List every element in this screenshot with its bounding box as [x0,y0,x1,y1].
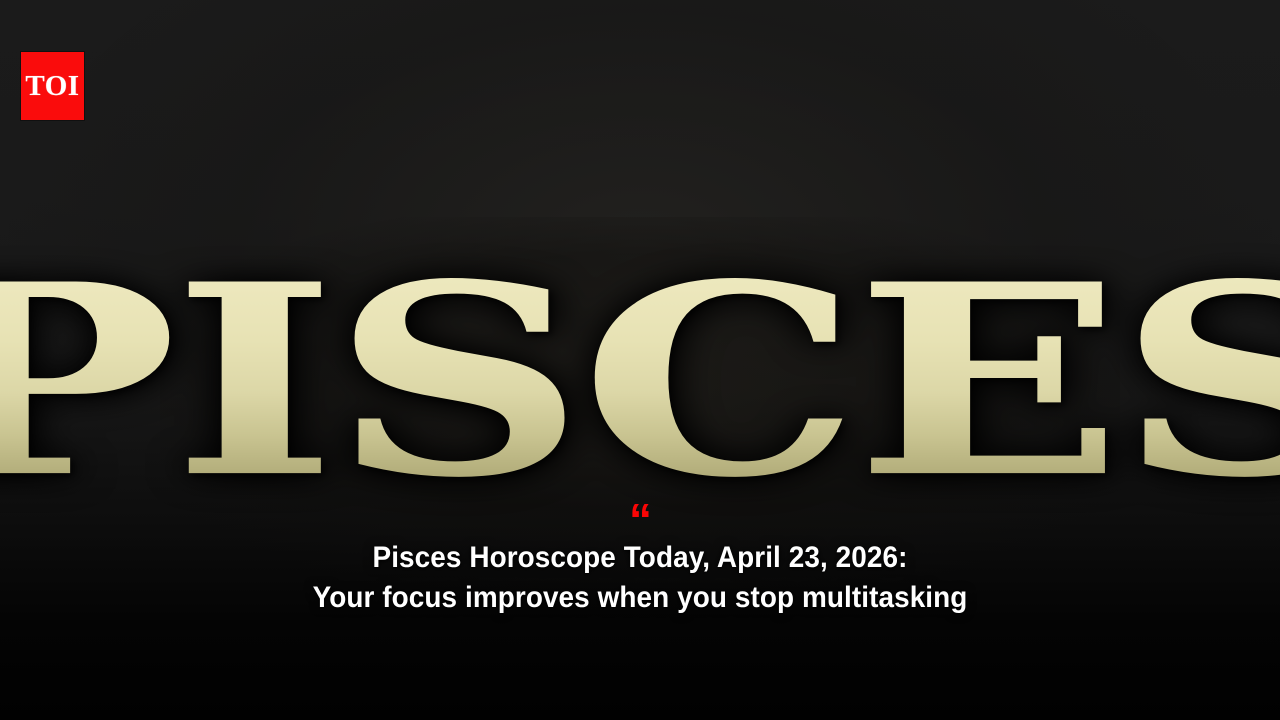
quote-mark-icon: “ [629,497,651,543]
zodiac-wordart-container: PISCES [0,232,1280,532]
toi-logo-text: TOI [25,72,79,101]
caption: Pisces Horoscope Today, April 23, 2026: … [45,538,1235,618]
zodiac-wordart-pisces: PISCES [0,251,1280,514]
video-frame: TOI PISCES “ Pisces Horoscope Today, Apr… [0,0,1280,720]
toi-logo[interactable]: TOI [21,52,84,120]
caption-line-2: Your focus improves when you stop multit… [45,578,1235,618]
caption-line-1: Pisces Horoscope Today, April 23, 2026: [45,538,1235,578]
